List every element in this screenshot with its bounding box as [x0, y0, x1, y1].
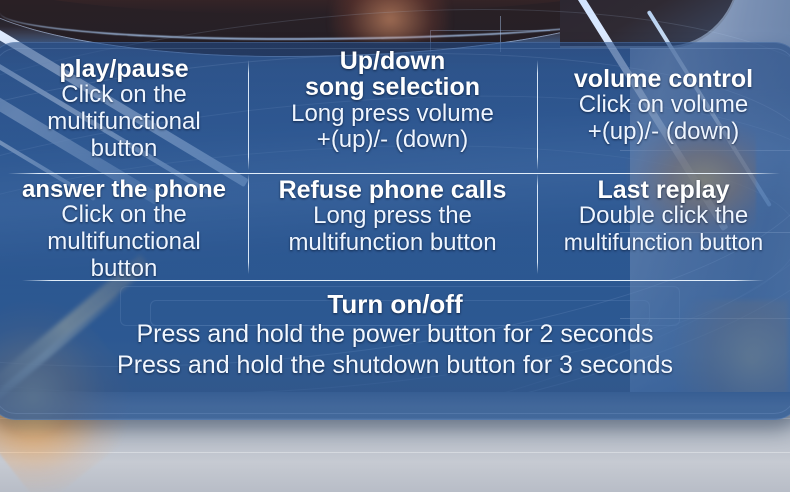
cell-title: play/pause [6, 56, 242, 82]
cell-title: Refuse phone calls [254, 177, 531, 203]
cell-last-replay: Last replay Double click the multifuncti… [537, 171, 790, 276]
power-instructions: Turn on/off Press and hold the power but… [0, 290, 790, 381]
cell-line: multifunctional [6, 109, 242, 136]
vertical-divider-1-bottom [248, 174, 249, 274]
horizontal-divider-rows [8, 173, 780, 174]
power-line: Press and hold the power button for 2 se… [0, 319, 790, 350]
cell-line: multifunctional [6, 229, 242, 256]
cell-line: button [6, 256, 242, 283]
cell-line: Long press the [254, 203, 531, 230]
cell-play-pause: play/pause Click on the multifunctional … [0, 42, 248, 171]
cell-title: answer the phone [6, 177, 242, 202]
cell-line: Click on volume [543, 92, 784, 119]
cell-refuse-calls: Refuse phone calls Long press the multif… [248, 171, 537, 276]
vertical-divider-2-top [537, 60, 538, 170]
cell-song-selection: Up/down song selection Long press volume… [248, 42, 537, 171]
vertical-divider-1-top [248, 60, 249, 170]
power-line: Press and hold the shutdown button for 3… [0, 350, 790, 381]
cell-line: multifunction button [543, 230, 784, 256]
cell-line: Double click the [543, 203, 784, 230]
cell-line: button [6, 136, 242, 163]
cell-line: Long press volume [254, 101, 531, 128]
cell-line: +(up)/- (down) [254, 127, 531, 154]
vertical-divider-2-bottom [537, 174, 538, 274]
cell-line: +(up)/- (down) [543, 119, 784, 146]
instruction-row-1: play/pause Click on the multifunctional … [0, 42, 790, 171]
cell-answer-phone: answer the phone Click on the multifunct… [0, 171, 248, 276]
cell-title: Last replay [543, 177, 784, 203]
cell-line: Click on the [6, 202, 242, 229]
cell-line: Click on the [6, 82, 242, 109]
cell-title: Up/down song selection [254, 48, 531, 101]
cell-title: volume control [543, 66, 784, 92]
horizontal-divider-bottom [22, 280, 764, 281]
cell-line: multifunction button [254, 230, 531, 257]
deck-seam [0, 452, 790, 453]
instruction-grid: play/pause Click on the multifunctional … [0, 42, 790, 280]
cell-volume-control: volume control Click on volume +(up)/- (… [537, 42, 790, 171]
instructions-panel: play/pause Click on the multifunctional … [0, 42, 790, 420]
power-title: Turn on/off [0, 290, 790, 319]
instruction-row-2: answer the phone Click on the multifunct… [0, 171, 790, 276]
